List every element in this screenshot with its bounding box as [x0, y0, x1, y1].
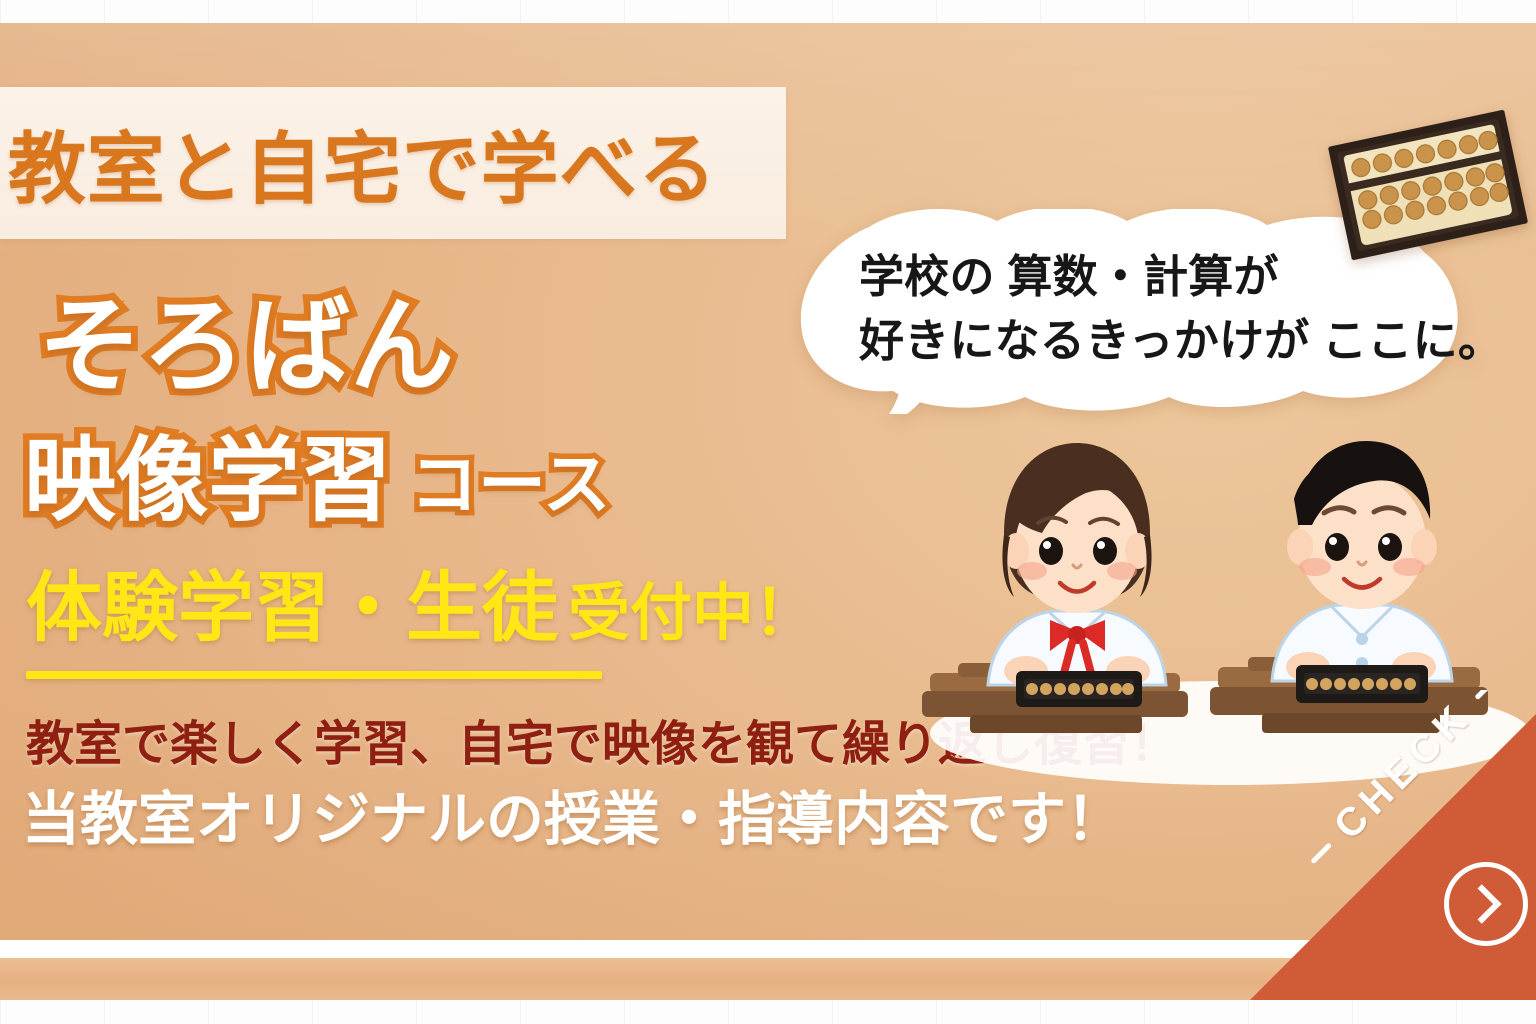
girl-student-illustration — [922, 443, 1188, 733]
speech-bubble-text: 学校の 算数・計算が 好きになるきっかけが ここに。 — [859, 245, 1439, 373]
recruit-sub-text: 受付中！ — [568, 583, 816, 645]
dash-right-icon — [1474, 690, 1496, 700]
chevron-glyph — [1462, 884, 1502, 924]
title-course-suffix: コース — [410, 451, 611, 519]
chevron-right-icon[interactable] — [1444, 862, 1528, 946]
abacus-icon — [1328, 110, 1528, 261]
recruit-line: 体験学習・生徒 受付中！ — [26, 571, 816, 647]
title-video-study: 映像学習 — [24, 435, 392, 527]
speech-bubble-line2: 好きになるきっかけが ここに。 — [859, 309, 1439, 373]
recruit-main-text: 体験学習・生徒 — [26, 571, 558, 647]
title-soroban: そろばん — [38, 295, 454, 399]
check-corner-ribbon[interactable]: CHECK — [1226, 690, 1536, 1024]
copy-white-text: 当教室オリジナルの授業・指導内容です！ — [22, 791, 1124, 849]
page-bottom-grid-edge — [0, 1000, 1536, 1024]
recruit-underline — [26, 671, 602, 679]
banner-stage: 教室と自宅で学べる そろばん 映像学習 コース 体験学習・生徒 受付中！ 教室で… — [0, 0, 1536, 1024]
title-course-row: 映像学習 コース — [24, 435, 611, 527]
page-top-grid-edge — [0, 0, 1536, 23]
dash-left-icon — [1310, 842, 1332, 864]
headline-text: 教室と自宅で学べる — [8, 107, 717, 219]
